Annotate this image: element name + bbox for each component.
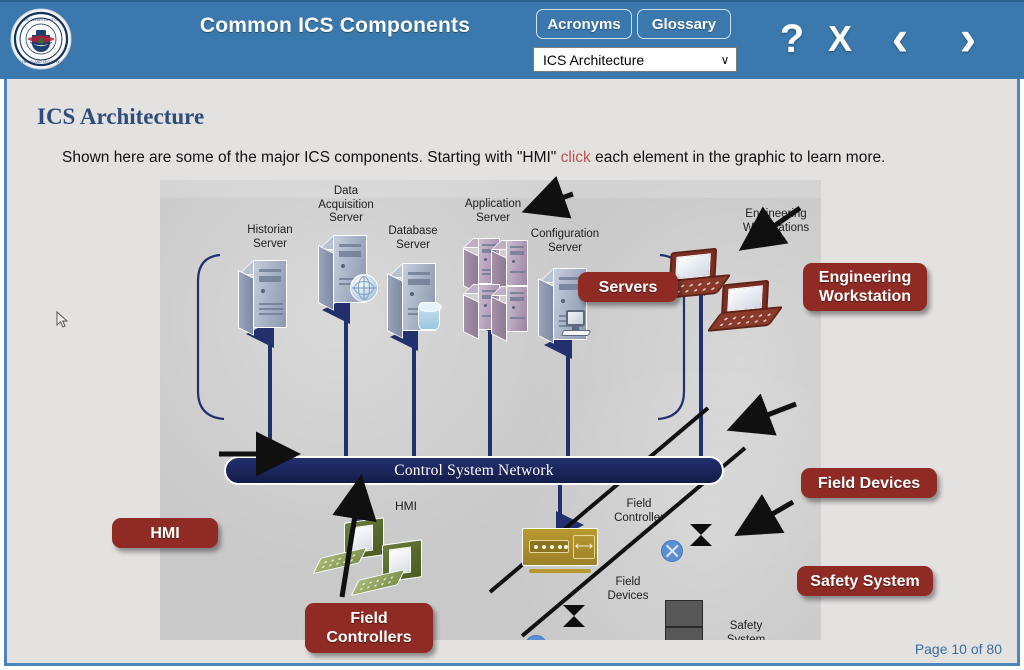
close-icon[interactable]: X <box>820 16 860 62</box>
prev-icon[interactable]: ‹ <box>872 12 928 64</box>
dhs-seal-icon: U.S. DEPARTMENT OF HOMELAND SECURITY <box>10 8 72 70</box>
help-icon[interactable]: ? <box>772 16 812 62</box>
blue-valve-icon-1 <box>661 540 683 562</box>
app-header: U.S. DEPARTMENT OF HOMELAND SECURITY Com… <box>0 0 1024 79</box>
content-panel: ICS Architecture Shown here are some of … <box>4 79 1020 666</box>
next-icon[interactable]: › <box>940 12 996 64</box>
network-globe-icon <box>350 274 378 302</box>
mouse-cursor <box>56 311 70 329</box>
callout-field-devices[interactable]: Field Devices <box>801 468 937 498</box>
field-controller-icon <box>522 528 598 566</box>
intro-text-after: each element in the graphic to learn mor… <box>591 149 886 166</box>
page-title: ICS Architecture <box>37 104 204 130</box>
configuration-workstation-icon <box>562 310 592 338</box>
database-server-label: DatabaseServer <box>364 225 462 252</box>
acronyms-button[interactable]: Acronyms <box>536 9 632 39</box>
callout-servers[interactable]: Servers <box>578 272 678 302</box>
ics-architecture-diagram: HistorianServer DataAcquisitionServer <box>160 180 821 640</box>
callout-hmi[interactable]: HMI <box>112 518 218 548</box>
click-link[interactable]: click <box>561 149 591 166</box>
chevron-down-icon: ∨ <box>714 54 736 66</box>
callout-safety-system[interactable]: Safety System <box>797 566 933 596</box>
intro-text-before: Shown here are some of the major ICS com… <box>62 149 561 166</box>
callout-field-controllers[interactable]: FieldControllers <box>305 603 433 653</box>
engineering-workstations-label: EngineeringWorkstations <box>720 208 821 235</box>
page-number: Page 10 of 80 <box>915 641 1002 657</box>
valve-icon-1 <box>690 524 712 546</box>
topic-select-value: ICS Architecture <box>534 52 714 68</box>
course-player: U.S. DEPARTMENT OF HOMELAND SECURITY Com… <box>0 0 1024 670</box>
configuration-server-label: ConfigurationServer <box>508 228 622 255</box>
control-system-network-bar[interactable]: Control System Network <box>224 456 724 485</box>
safety-system-label: SafetySystem <box>708 620 784 640</box>
database-cylinder-icon <box>418 302 440 330</box>
glossary-button[interactable]: Glossary <box>637 9 731 39</box>
field-controller-base <box>529 569 591 573</box>
svg-text:U.S. DEPARTMENT OF: U.S. DEPARTMENT OF <box>23 18 59 22</box>
field-devices-label: FieldDevices <box>588 576 668 603</box>
valve-icon-2 <box>563 605 585 627</box>
safety-system-icon <box>665 600 703 640</box>
application-server-label: ApplicationServer <box>442 198 544 225</box>
header-top-divider <box>0 0 1024 2</box>
topic-select[interactable]: ICS Architecture ∨ <box>533 47 737 72</box>
historian-server-label: HistorianServer <box>222 224 318 251</box>
svg-text:HOMELAND SECURITY: HOMELAND SECURITY <box>22 60 60 64</box>
hmi-label: HMI <box>386 500 426 514</box>
app-title: Common ICS Components <box>150 14 520 38</box>
historian-server-icon <box>238 260 290 332</box>
field-controller-label: FieldController <box>596 498 682 525</box>
engineering-workstation-laptop-2 <box>716 282 778 334</box>
callout-engineering-workstation[interactable]: EngineeringWorkstation <box>803 263 927 311</box>
data-acquisition-server-label: DataAcquisitionServer <box>294 185 398 226</box>
intro-text: Shown here are some of the major ICS com… <box>62 149 962 167</box>
